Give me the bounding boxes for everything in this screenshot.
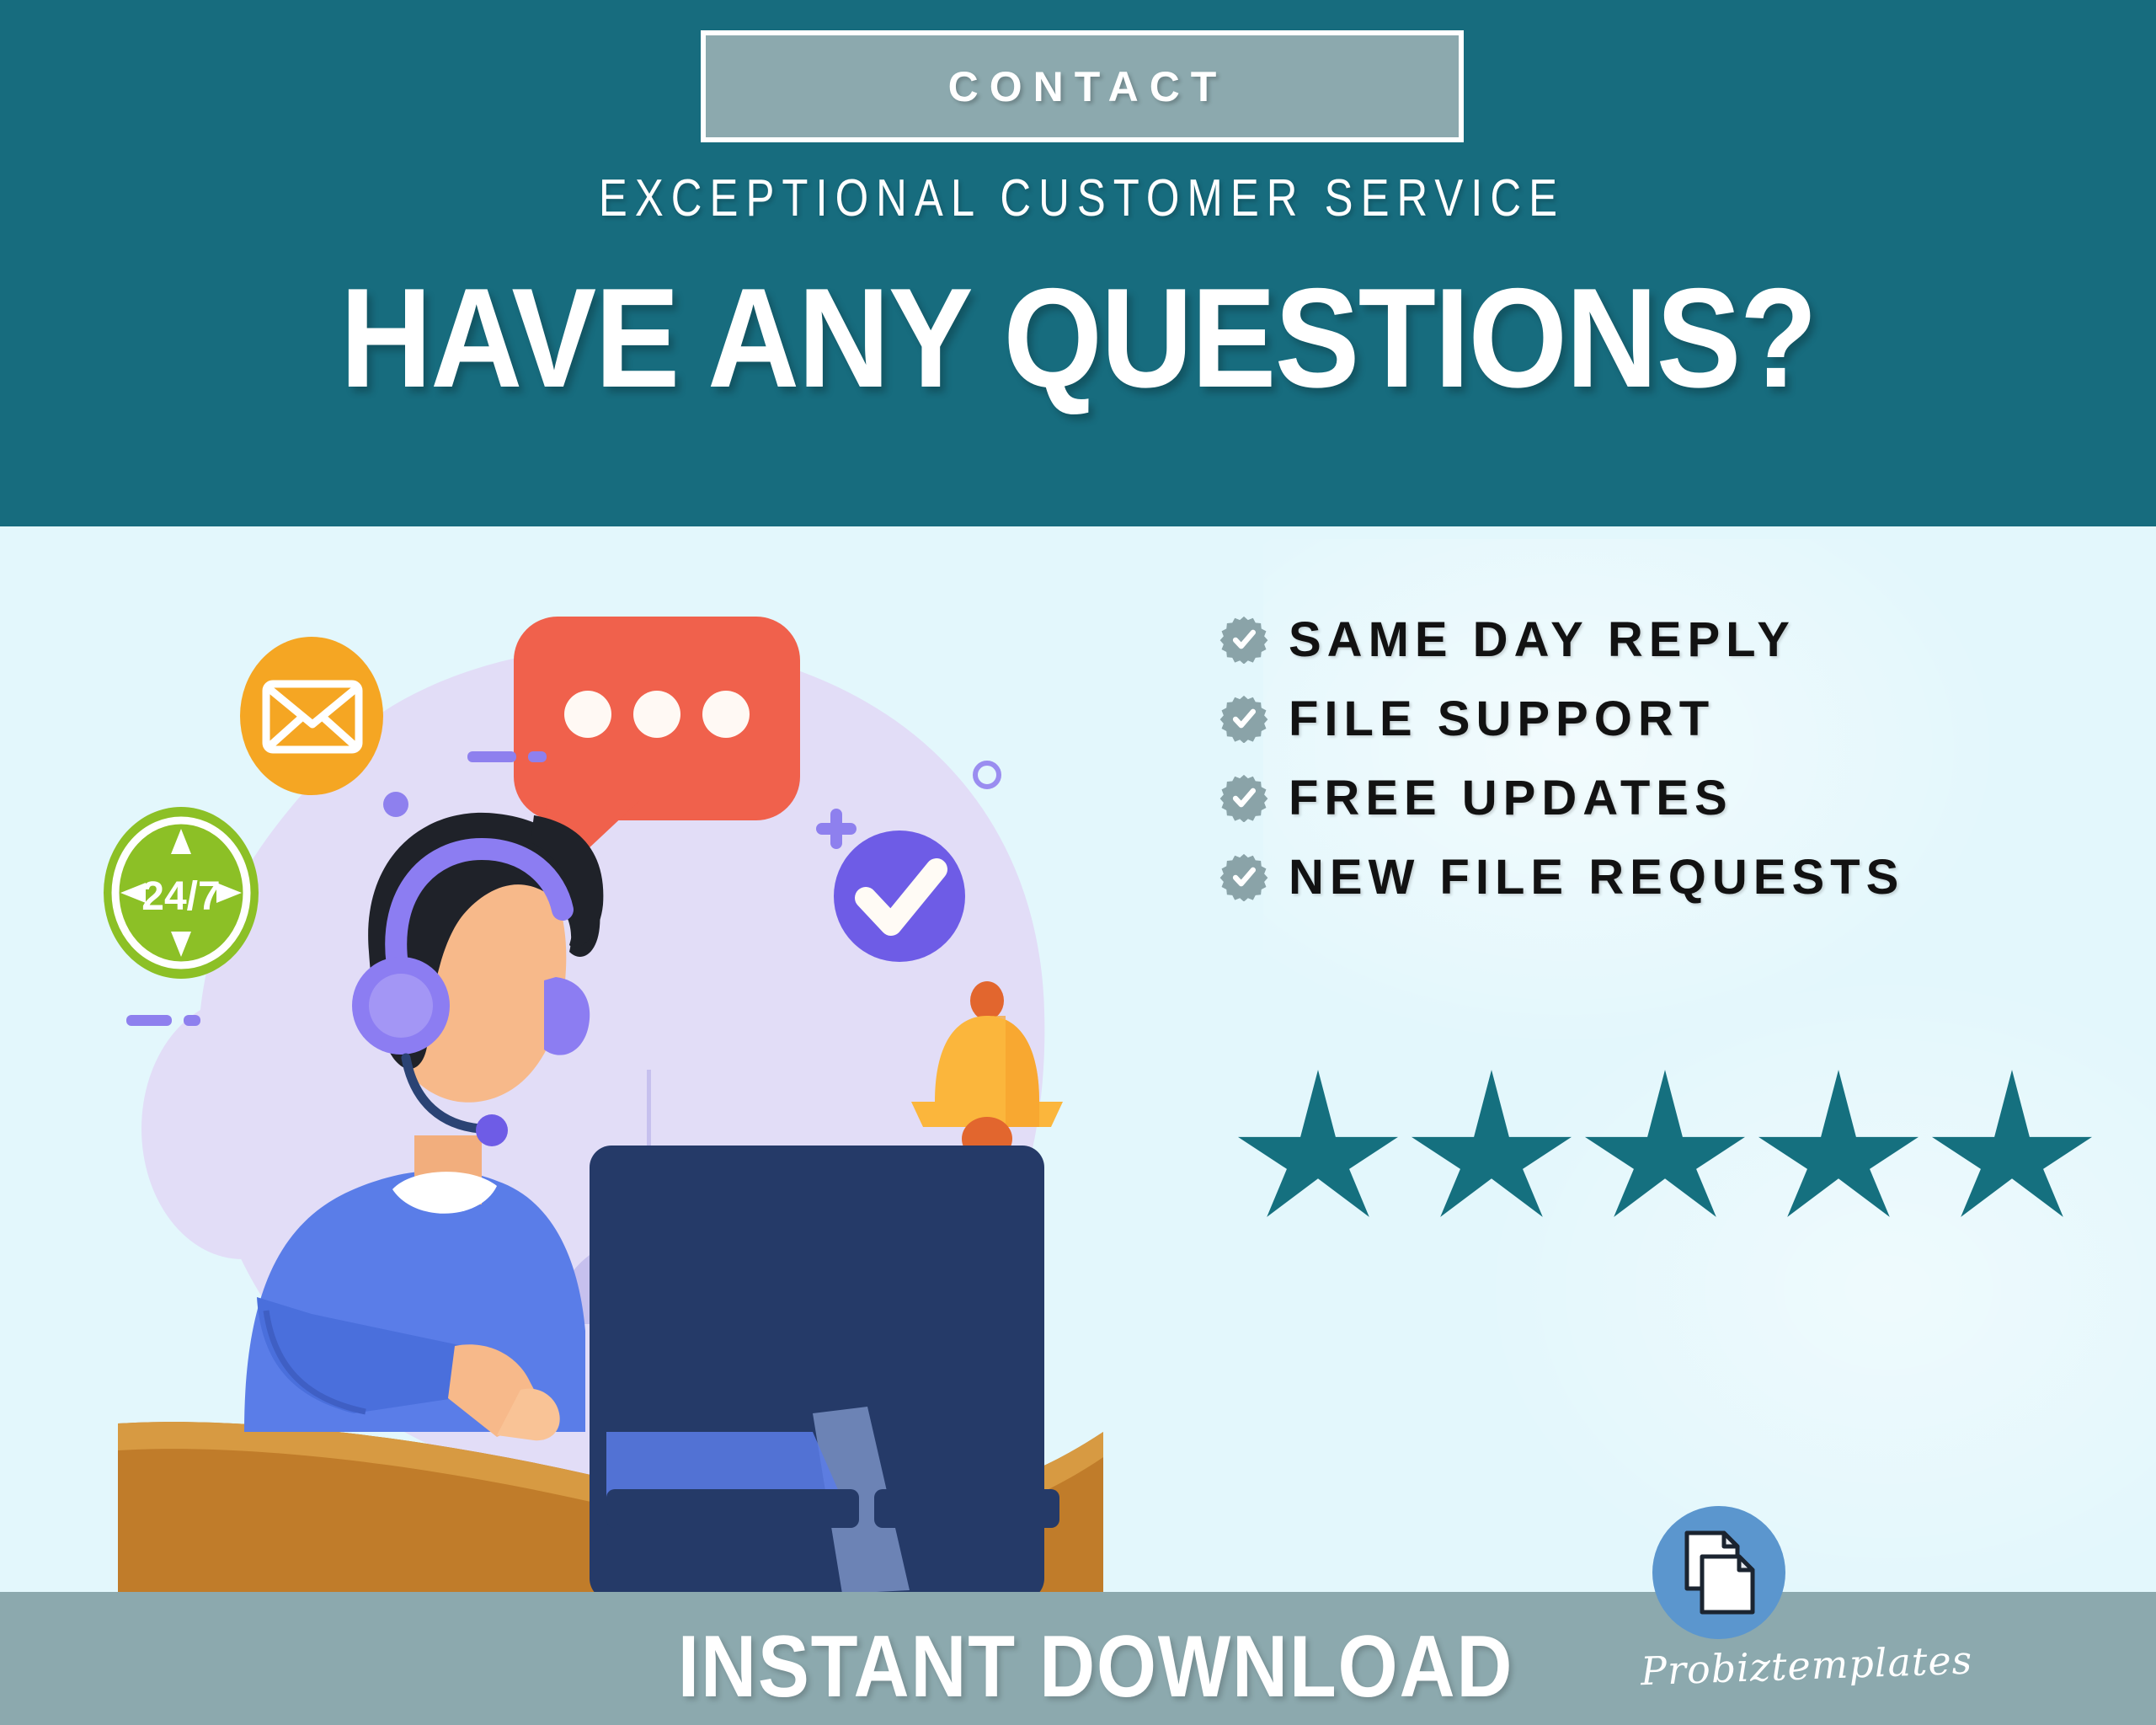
poster-canvas: CONTACT EXCEPTIONAL CUSTOMER SERVICE HAV… bbox=[0, 0, 2156, 1725]
feature-list: SAME DAY REPLY FILE SUPPORT FREE UPDATES bbox=[1219, 600, 2104, 916]
star-icon bbox=[1238, 1070, 1398, 1217]
check-badge-icon bbox=[1219, 615, 1268, 664]
star-icon bbox=[1932, 1070, 2092, 1217]
feature-item: SAME DAY REPLY bbox=[1219, 600, 2104, 679]
feature-label: NEW FILE REQUESTS bbox=[1289, 849, 1904, 905]
page-title: HAVE ANY QUESTIONS? bbox=[108, 263, 2048, 413]
star-icon bbox=[1758, 1070, 1919, 1217]
feature-label: SAME DAY REPLY bbox=[1289, 611, 1796, 668]
dot-icon bbox=[383, 792, 408, 817]
background-glow-bottom bbox=[1474, 969, 2156, 1609]
logo-circle bbox=[1652, 1506, 1785, 1639]
subtitle: EXCEPTIONAL CUSTOMER SERVICE bbox=[194, 168, 1961, 228]
star-rating bbox=[1238, 1070, 2092, 1217]
feature-item: FREE UPDATES bbox=[1219, 758, 2104, 837]
check-badge-icon bbox=[1219, 694, 1268, 743]
support-illustration: 24/7 bbox=[101, 556, 1213, 1609]
dash-icon bbox=[126, 1015, 200, 1026]
contact-badge: CONTACT bbox=[701, 30, 1464, 142]
check-circle-icon bbox=[834, 830, 965, 962]
feature-label: FILE SUPPORT bbox=[1289, 691, 1715, 747]
dash-icon bbox=[467, 751, 547, 762]
brand-name: Probiztemplates bbox=[1640, 1643, 1798, 1694]
feature-item: FILE SUPPORT bbox=[1219, 679, 2104, 758]
ring-icon bbox=[975, 763, 999, 787]
check-badge-icon bbox=[1219, 852, 1268, 901]
svg-text:24/7: 24/7 bbox=[141, 874, 220, 919]
contact-badge-label: CONTACT bbox=[937, 62, 1228, 111]
brand-logo: Probiztemplates bbox=[1641, 1506, 1797, 1691]
envelope-icon bbox=[240, 637, 383, 795]
feature-item: NEW FILE REQUESTS bbox=[1219, 837, 2104, 916]
documents-icon bbox=[1678, 1528, 1759, 1617]
star-icon bbox=[1585, 1070, 1745, 1217]
clock-24-7-icon: 24/7 bbox=[104, 807, 259, 979]
instant-download-label: INSTANT DOWNLOAD bbox=[678, 1617, 1478, 1717]
feature-label: FREE UPDATES bbox=[1289, 770, 1733, 826]
monitor bbox=[590, 1146, 1059, 1600]
star-icon bbox=[1412, 1070, 1572, 1217]
check-badge-icon bbox=[1219, 773, 1268, 822]
